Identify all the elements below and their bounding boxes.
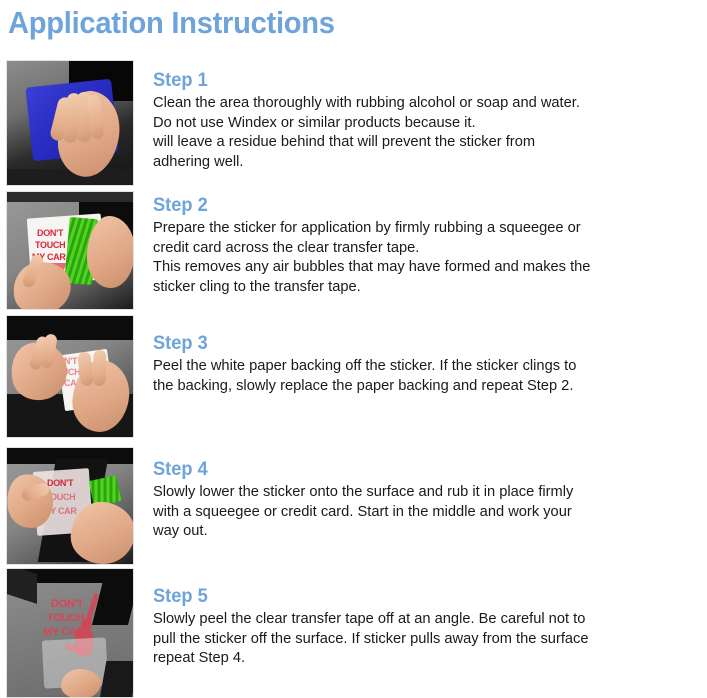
hand	[87, 216, 133, 288]
step-row: Step 1 Clean the area thoroughly with ru…	[0, 58, 707, 188]
photo-step-4-lowering-sticker-onto-surface: DON'T TOUCH MY CAR	[6, 447, 134, 565]
step-text: Step 1 Clean the area thoroughly with ru…	[153, 70, 703, 171]
page-title: Application Instructions	[8, 3, 335, 43]
photo-canvas: DON'T TOUCH MY CAR	[7, 569, 133, 697]
step-row: DON'T TOUCH MY CAR Step 2 Prepare the st…	[0, 189, 707, 313]
steps-list: Step 1 Clean the area thoroughly with ru…	[0, 58, 707, 698]
step-heading: Step 4	[153, 459, 681, 481]
photo-canvas: DON'T TOUCH MY CAR	[7, 192, 133, 309]
decal-line: TOUCH	[47, 613, 84, 623]
dark-background-band	[7, 316, 133, 340]
finger	[92, 350, 106, 386]
photo-step-5-peeling-clear-transfer-tape: DON'T TOUCH MY CAR	[6, 568, 134, 698]
photo-step-1-cleaning-surface-with-blue-cloth	[6, 60, 134, 186]
decal-line: MY CAR	[43, 627, 84, 637]
step-body: Slowly lower the sticker onto the surfac…	[153, 482, 684, 541]
photo-canvas	[7, 61, 133, 185]
step-text: Step 2 Prepare the sticker for applicati…	[153, 195, 703, 296]
step-text: Step 3 Peel the white paper backing off …	[153, 333, 703, 395]
step-text: Step 4 Slowly lower the sticker onto the…	[153, 459, 703, 541]
photo-canvas: DON'T TOUCH MY CAR	[7, 448, 133, 564]
sticker-line: TOUCH	[35, 240, 65, 250]
hand	[61, 669, 101, 697]
photo-canvas: DON'T TOUCH MY CAR	[7, 316, 133, 437]
photo-step-2-rubbing-sticker-with-green-squeegee: DON'T TOUCH MY CAR	[6, 191, 134, 310]
sticker-line: DON'T	[47, 478, 73, 488]
step-row: DON'T TOUCH MY CAR Step 4 Slowly lower t…	[0, 443, 707, 567]
step-heading: Step 2	[153, 195, 681, 217]
step-body: Clean the area thoroughly with rubbing a…	[153, 93, 684, 171]
sticker-line: DON'T	[37, 228, 63, 238]
decal-line: DON'T	[51, 599, 83, 609]
step-row: DON'T TOUCH MY CAR Step 5 Slowly peel th…	[0, 566, 707, 698]
step-body: Prepare the sticker for application by f…	[153, 218, 684, 296]
step-heading: Step 3	[153, 333, 681, 355]
step-heading: Step 1	[153, 70, 681, 92]
dark-background-band	[100, 661, 133, 697]
dark-background-band	[7, 192, 133, 202]
step-body: Peel the white paper backing off the sti…	[153, 356, 684, 395]
step-row: DON'T TOUCH MY CAR Step 3 Peel the white…	[0, 313, 707, 440]
step-text: Step 5 Slowly peel the clear transfer ta…	[153, 586, 703, 668]
photo-step-3-peeling-paper-backing: DON'T TOUCH MY CAR	[6, 315, 134, 438]
step-body: Slowly peel the clear transfer tape off …	[153, 609, 684, 668]
step-heading: Step 5	[153, 586, 681, 608]
